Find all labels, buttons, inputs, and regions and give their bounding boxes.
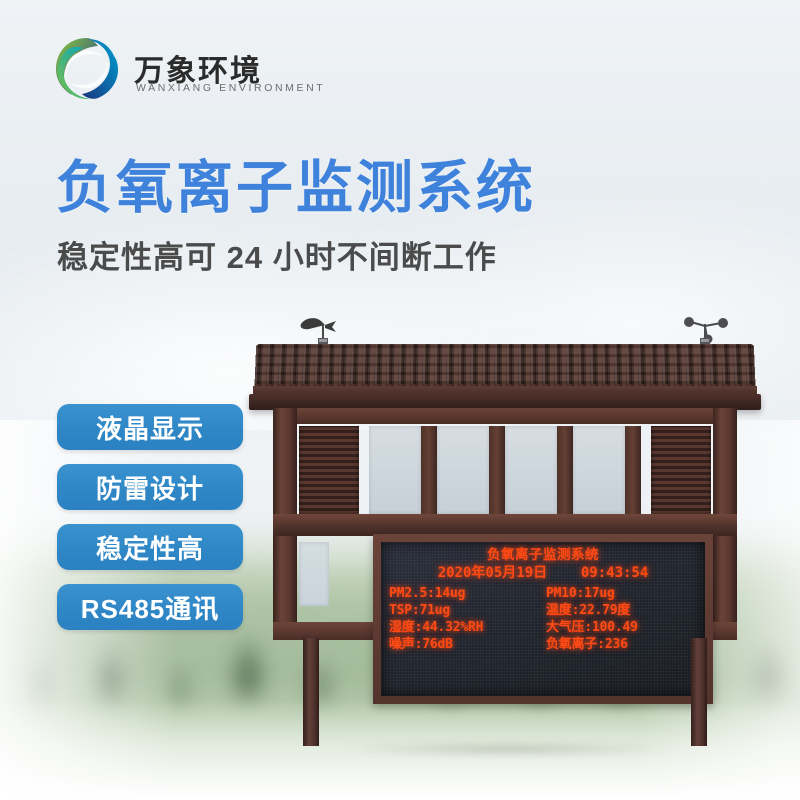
side-window-left — [299, 542, 329, 606]
window-mullion-2 — [489, 426, 505, 514]
upper-window-4 — [573, 426, 625, 514]
feature-pill-rs485[interactable]: RS485通讯 — [57, 584, 243, 630]
led-date: 2020年05月19日 — [438, 565, 547, 581]
station-legs — [273, 638, 737, 748]
roof-tile-texture — [255, 344, 756, 384]
globe-swirl-logo-icon — [52, 34, 122, 104]
brand-name-en: WANXIANG ENVIRONMENT — [136, 82, 325, 94]
support-leg-left — [303, 638, 319, 746]
led-time: 09:43:54 — [581, 565, 648, 581]
led-row: PM2.5:14ug PM10:17ug — [389, 585, 697, 602]
upper-window-2 — [437, 426, 489, 514]
feature-pill-lcd[interactable]: 液晶显示 — [57, 404, 243, 450]
upper-window-3 — [505, 426, 557, 514]
led-datetime: 2020年05月19日 09:43:54 — [389, 565, 697, 583]
window-mullion-4 — [625, 426, 641, 514]
window-mullion-1 — [421, 426, 437, 514]
upper-window-1 — [369, 426, 421, 514]
window-mullion-3 — [557, 426, 573, 514]
feature-pill-stability[interactable]: 稳定性高 — [57, 524, 243, 570]
louver-vent-right — [651, 426, 711, 514]
page-subtitle: 稳定性高可 24 小时不间断工作 — [57, 242, 497, 273]
led-value-tsp: TSP:71ug — [389, 602, 540, 619]
monitoring-station: 负氧离子监测系统 2020年05月19日 09:43:54 PM2.5:14ug… — [255, 312, 755, 752]
led-value-temperature: 温度:22.79度 — [540, 602, 697, 619]
feature-pill-lightning-protection[interactable]: 防雷设计 — [57, 464, 243, 510]
led-row: 湿度:44.32%RH 大气压:100.49 — [389, 619, 697, 636]
cabinet-top-rail — [273, 408, 737, 424]
support-leg-right — [691, 638, 707, 746]
page-title: 负氧离子监测系统 — [56, 160, 536, 217]
brand-logo: 万象环境 WANXIANG ENVIRONMENT — [52, 34, 267, 106]
led-row: TSP:71ug 温度:22.79度 — [389, 602, 697, 619]
promo-banner: 万象环境 WANXIANG ENVIRONMENT 负氧离子监测系统 稳定性高可… — [0, 0, 800, 800]
led-value-pm10: PM10:17ug — [540, 585, 697, 602]
led-value-pressure: 大气压:100.49 — [540, 619, 697, 636]
feature-pill-list: 液晶显示 防雷设计 稳定性高 RS485通讯 — [57, 404, 257, 644]
cabinet-mid-rail — [273, 514, 737, 536]
led-value-pm25: PM2.5:14ug — [389, 585, 540, 602]
ground-shadow — [283, 742, 733, 756]
louver-vent-left — [299, 426, 359, 514]
led-title: 负氧离子监测系统 — [389, 548, 697, 564]
led-value-humidity: 湿度:44.32%RH — [389, 619, 540, 636]
